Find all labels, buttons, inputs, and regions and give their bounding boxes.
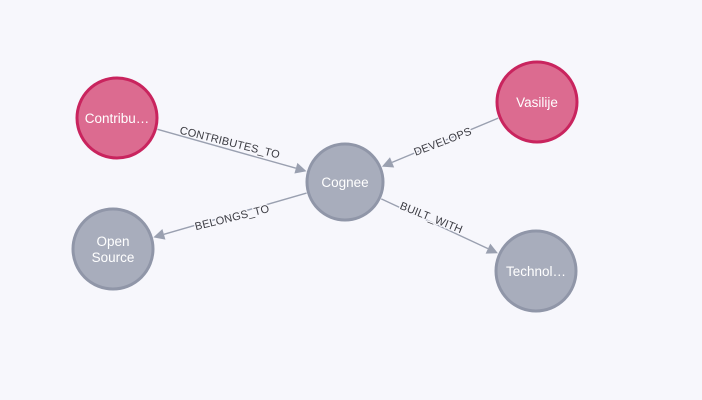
edge-label-develops[interactable]: DEVELOPS <box>412 126 473 159</box>
graph-node-contributors[interactable]: Contribu… <box>77 78 157 158</box>
nodes-layer: Contribu…VasilijeCogneeOpenSourceTechnol… <box>73 62 577 311</box>
graph-visualization[interactable]: Contribu…VasilijeCogneeOpenSourceTechnol… <box>0 0 702 400</box>
edge-label-belongs-to[interactable]: BELONGS_TO <box>194 203 271 233</box>
graph-node-cognee[interactable]: Cognee <box>307 144 383 220</box>
node-label-vasilije: Vasilije <box>516 95 558 110</box>
graph-canvas[interactable]: Contribu…VasilijeCogneeOpenSourceTechnol… <box>0 0 702 400</box>
node-label-cognee: Cognee <box>321 175 368 190</box>
graph-node-technology[interactable]: Technol… <box>496 231 576 311</box>
edge-arrowhead-contributes-to <box>294 163 306 174</box>
node-label-open-source: OpenSource <box>92 234 135 265</box>
graph-node-open-source[interactable]: OpenSource <box>73 209 153 289</box>
node-label-technology: Technol… <box>506 264 566 279</box>
node-label-contributors: Contribu… <box>85 111 150 126</box>
edge-arrowhead-belongs-to <box>153 229 165 240</box>
edge-label-built-with[interactable]: BUILT_WITH <box>398 200 464 236</box>
edge-label-contributes-to[interactable]: CONTRIBUTES_TO <box>178 125 281 162</box>
graph-node-vasilije[interactable]: Vasilije <box>497 62 577 142</box>
